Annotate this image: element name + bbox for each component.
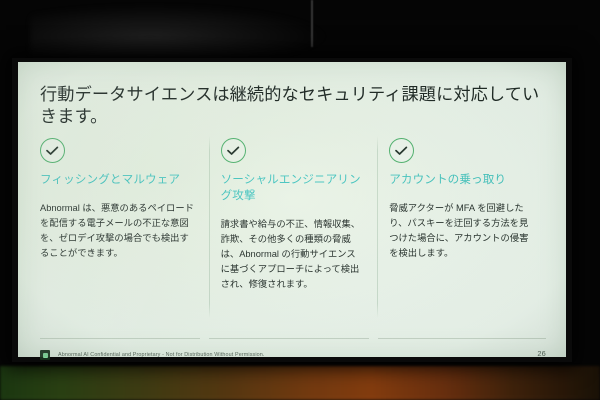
abnormal-ai-logo <box>40 350 50 360</box>
column-divider <box>209 136 210 318</box>
feature-body-text: Abnormal は、悪意のあるペイロードを配信する電子メールの不正な意図を、ゼ… <box>40 201 195 261</box>
presentation-slide: 行動データサイエンスは継続的なセキュリティ課題に対応していきます。 フィッシング… <box>18 62 566 357</box>
ambient-haze <box>30 4 330 58</box>
background-pole <box>311 0 313 47</box>
check-circle-icon <box>40 138 65 163</box>
stage-floor-lighting <box>0 366 600 400</box>
feature-heading: ソーシャルエンジニアリング攻撃 <box>221 172 364 204</box>
slide-footer: Abnormal AI Confidential and Proprietary… <box>40 348 546 362</box>
feature-body-text: 請求書や給与の不正、情報収集、詐欺、その他多くの種類の脅威は、Abnormal … <box>221 217 364 292</box>
check-circle-icon <box>389 138 414 163</box>
projection-room-photo: 行動データサイエンスは継続的なセキュリティ課題に対応していきます。 フィッシング… <box>0 0 600 400</box>
check-circle-icon <box>221 138 246 163</box>
feature-heading: フィッシングとマルウェア <box>40 172 195 188</box>
feature-column-social-engineering-attacks: ソーシャルエンジニアリング攻撃 請求書や給与の不正、情報収集、詐欺、その他多くの… <box>209 138 378 328</box>
feature-body-text: 脅威アクターが MFA を回避したり、パスキーを迂回する方法を見つけた場合に、ア… <box>389 201 532 261</box>
feature-heading: アカウントの乗っ取り <box>389 172 532 188</box>
footer-divider-rule <box>40 338 546 339</box>
page-number: 26 <box>537 349 546 358</box>
column-divider <box>377 136 378 318</box>
slide-title: 行動データサイエンスは継続的なセキュリティ課題に対応していきます。 <box>40 84 550 127</box>
confidentiality-notice: Abnormal AI Confidential and Proprietary… <box>58 352 265 358</box>
feature-column-account-takeover: アカウントの乗っ取り 脅威アクターが MFA を回避したり、パスキーを迂回する方… <box>377 138 546 328</box>
feature-columns: フィッシングとマルウェア Abnormal は、悪意のあるペイロードを配信する電… <box>40 138 546 328</box>
feature-column-phishing-and-malware: フィッシングとマルウェア Abnormal は、悪意のあるペイロードを配信する電… <box>40 138 209 328</box>
